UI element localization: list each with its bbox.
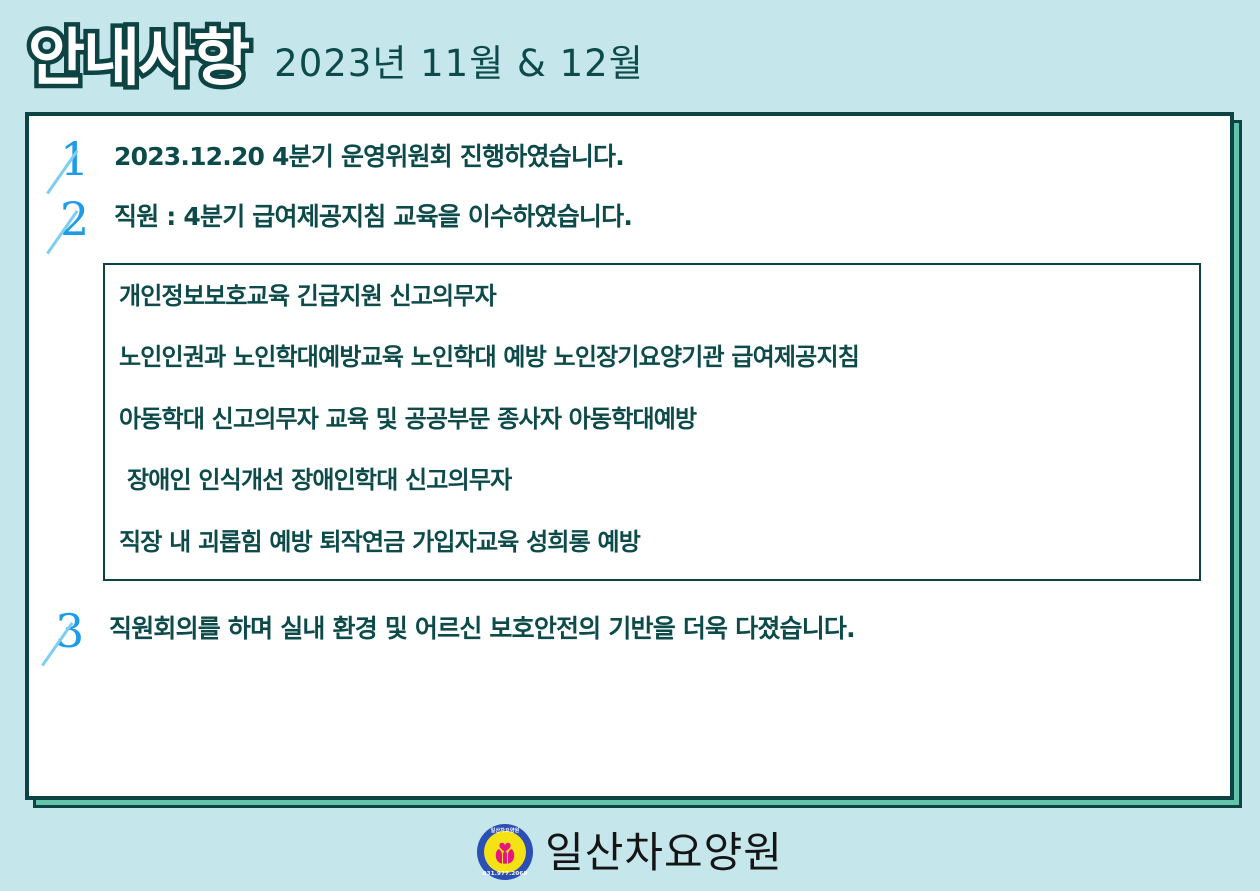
- announcement-item-3: 3 직원회의를 하며 실내 환경 및 어르신 보호안전의 기반을 더욱 다졌습니…: [55, 608, 855, 654]
- logo-ring-text-top: 일산차요양원: [477, 827, 533, 834]
- organization-name: 일산차요양원: [545, 819, 783, 880]
- announcement-item-2: 2 직원 : 4분기 급여제공지침 교육을 이수하였습니다.: [60, 196, 632, 242]
- page-footer: 일산차요양원 031.977.2069 일산차요양원: [0, 812, 1260, 891]
- hands-heart-icon: [490, 838, 520, 868]
- item-text-1: 2023.12.20 4분기 운영위원회 진행하였습니다.: [114, 136, 624, 172]
- education-line-5: 직장 내 괴롭힘 예방 퇴작연금 가입자교육 성희롱 예방: [119, 529, 1185, 555]
- logo-ring-text-bottom: 031.977.2069: [477, 871, 533, 877]
- item-text-3: 직원회의를 하며 실내 환경 및 어르신 보호안전의 기반을 더욱 다졌습니다.: [109, 608, 855, 644]
- education-list-box: 개인정보보호교육 긴급지원 신고의무자 노인인권과 노인학대예방교육 노인학대 …: [103, 263, 1201, 581]
- item-text-2: 직원 : 4분기 급여제공지침 교육을 이수하였습니다.: [114, 196, 632, 232]
- education-line-2: 노인인권과 노인학대예방교육 노인학대 예방 노인장기요양기관 급여제공지침: [119, 344, 1185, 370]
- caring-hands-badge-icon: 일산차요양원 031.977.2069: [477, 824, 533, 880]
- page-header: 안내사항 2023년 11월 & 12월: [0, 0, 1260, 112]
- education-line-4: 장애인 인식개선 장애인학대 신고의무자: [119, 467, 1185, 493]
- education-line-3: 아동학대 신고의무자 교육 및 공공부문 종사자 아동학대예방: [119, 406, 1185, 432]
- page-title: 안내사항: [28, 27, 248, 89]
- page-date-range: 2023년 11월 & 12월: [274, 33, 644, 87]
- announcement-item-1: 1 2023.12.20 4분기 운영위원회 진행하였습니다.: [60, 136, 624, 182]
- item-number-3: 3: [55, 608, 109, 654]
- item-number-2: 2: [60, 196, 114, 242]
- item-number-1: 1: [60, 136, 114, 182]
- education-line-1: 개인정보보호교육 긴급지원 신고의무자: [119, 283, 1185, 309]
